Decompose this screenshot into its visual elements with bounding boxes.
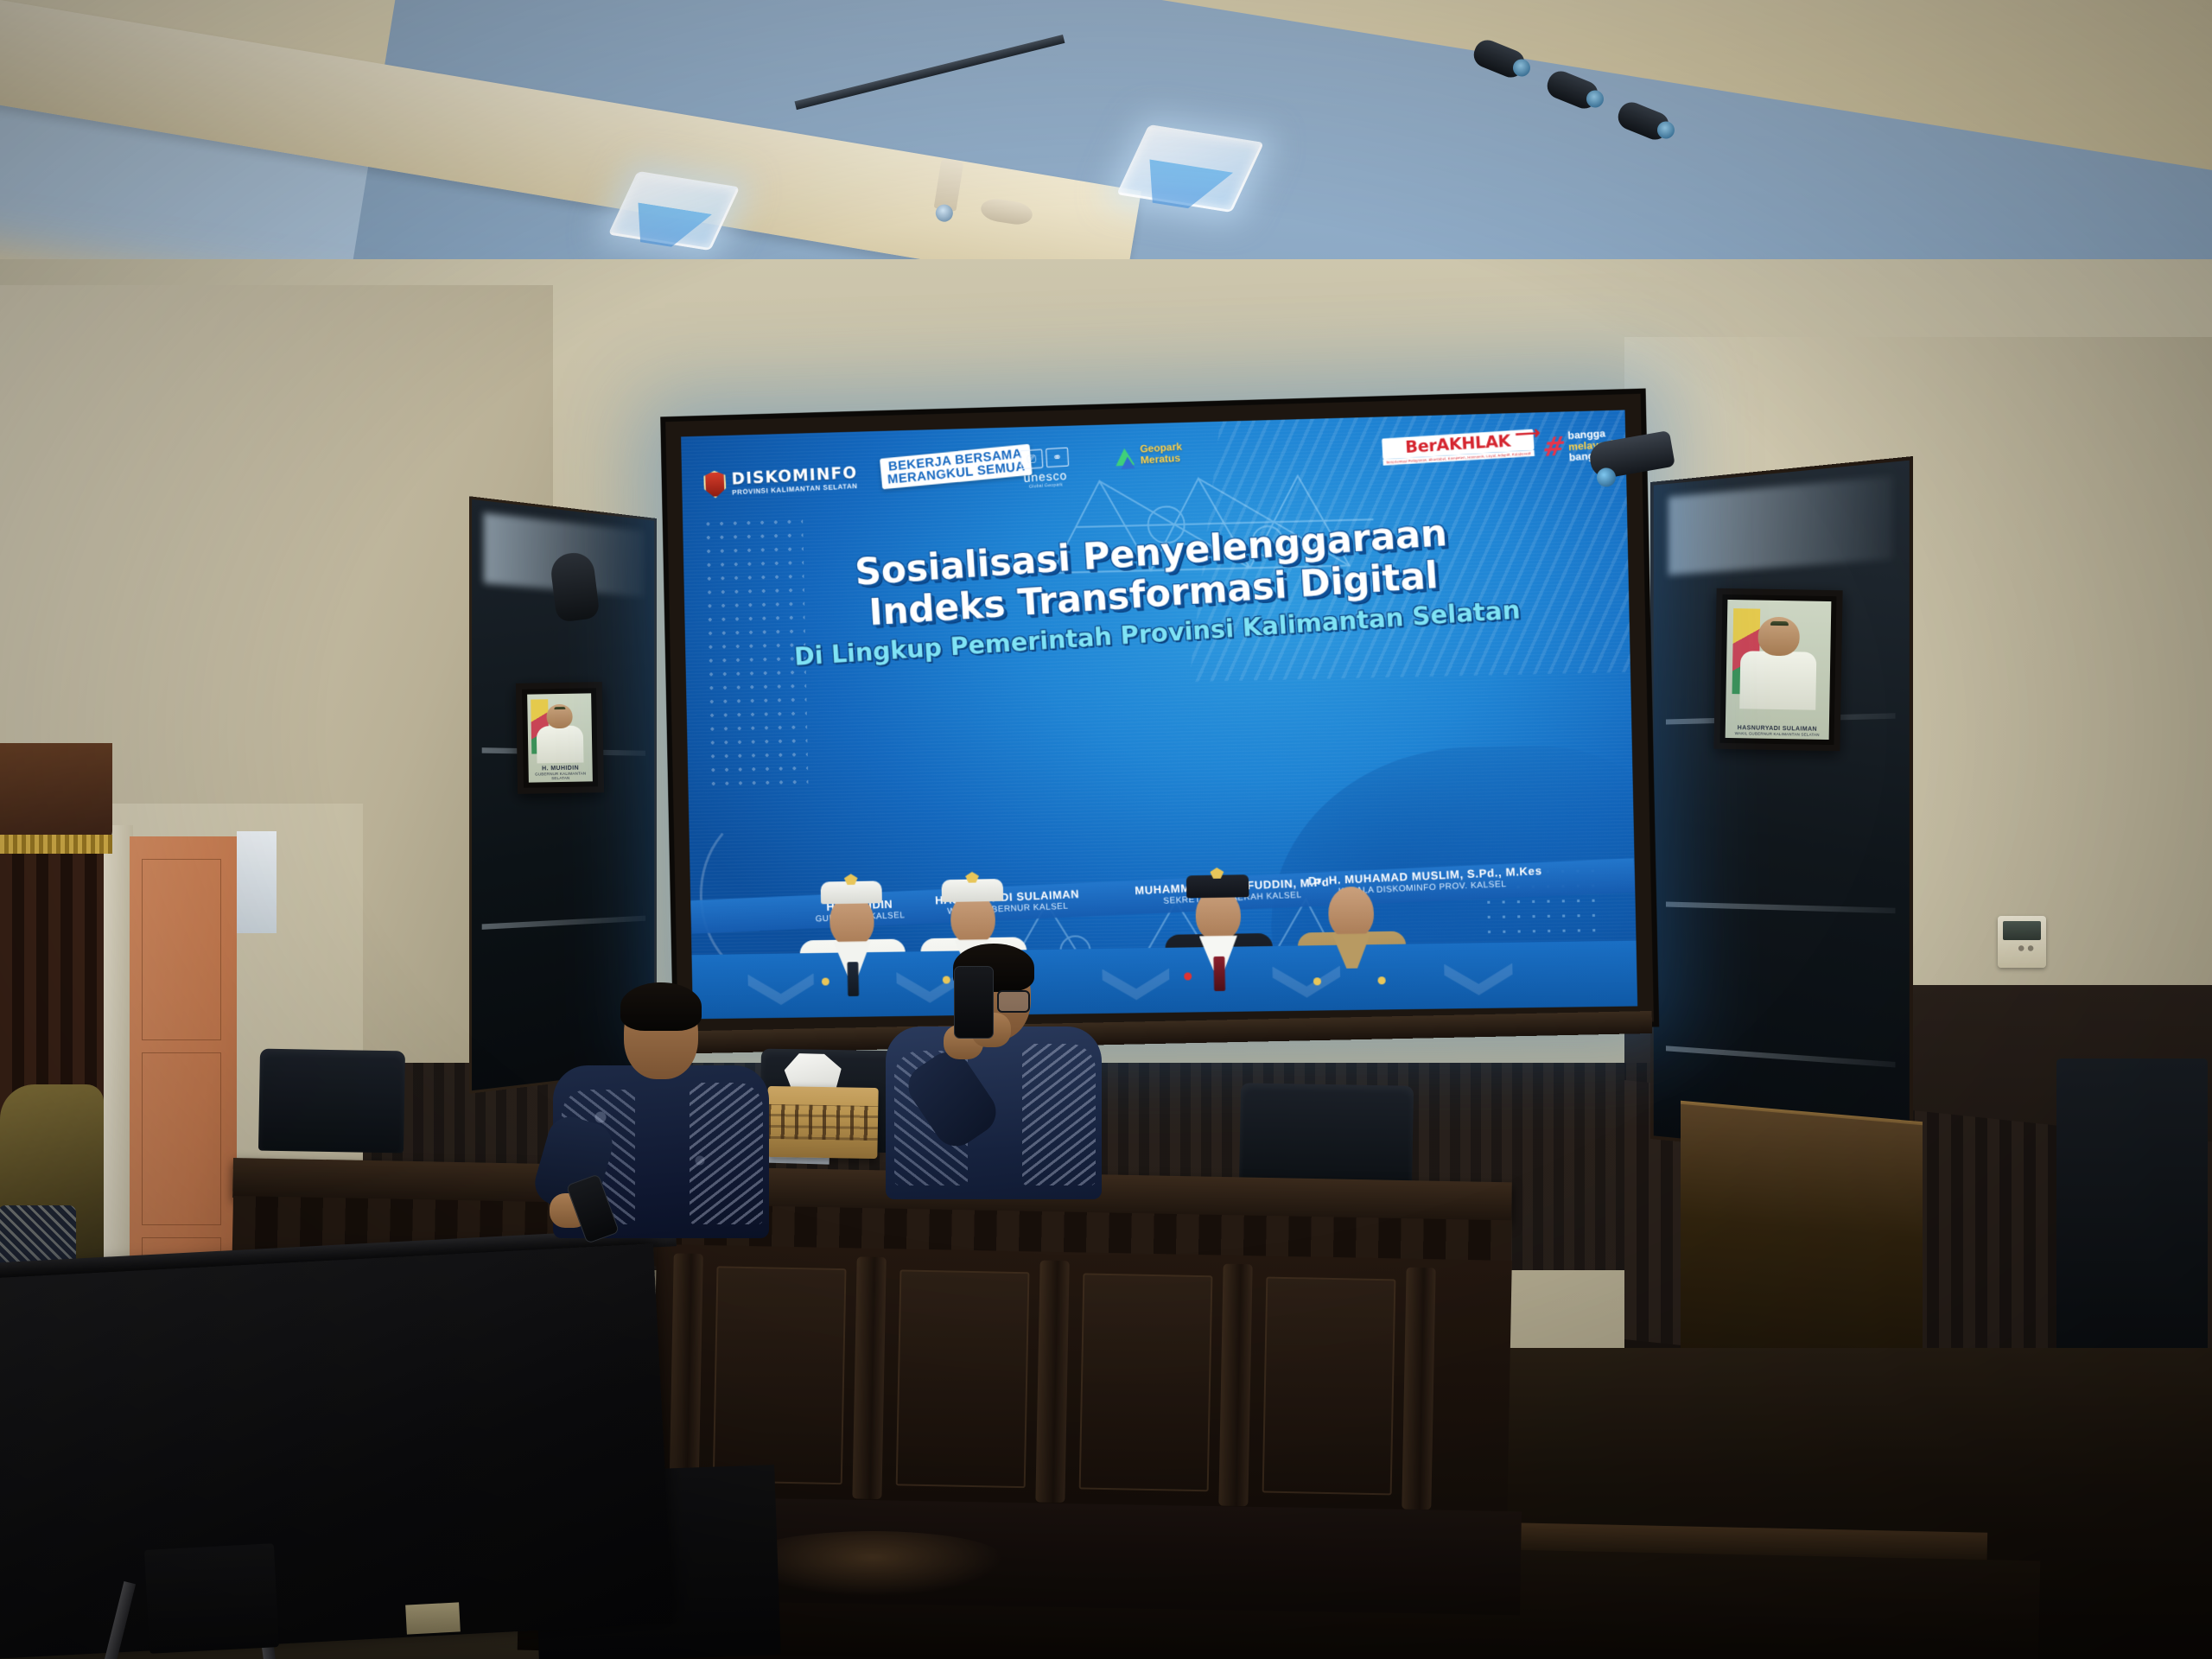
portrait-uniform xyxy=(1739,651,1817,710)
uniform-badge-icon xyxy=(1313,977,1321,985)
desk-carved-panel xyxy=(1079,1273,1213,1491)
conference-room-scene: H. MUHIDIN GUBERNUR KALIMANTAN SELATAN H… xyxy=(0,0,2212,1659)
desk-carved-panel xyxy=(896,1269,1030,1488)
uniform-badge-icon xyxy=(822,978,829,986)
wall-portrait-governor: H. MUHIDIN GUBERNUR KALIMANTAN SELATAN xyxy=(516,682,604,794)
desk-column xyxy=(1218,1264,1252,1507)
portrait-caption: H. MUHIDIN GUBERNUR KALIMANTAN SELATAN xyxy=(531,765,590,780)
desk-column xyxy=(852,1256,886,1499)
monitor-label-sticker xyxy=(405,1602,461,1634)
portrait-face xyxy=(547,704,573,729)
desk-carved-panel xyxy=(713,1266,847,1484)
desk-carved-panel xyxy=(1262,1277,1396,1496)
door-panel xyxy=(142,1052,221,1225)
unesco-geopark-icon: ⚭ xyxy=(1046,447,1069,467)
ac-thermostat-panel[interactable] xyxy=(1998,916,2046,968)
uniform-badge-icon xyxy=(1184,973,1192,981)
geopark-line-2: Meratus xyxy=(1140,453,1182,467)
officer-cap-icon xyxy=(554,707,564,710)
peci-cap-icon xyxy=(1185,874,1249,898)
curtain-fringe xyxy=(0,835,112,854)
batik-pattern xyxy=(1022,1044,1096,1185)
portrait-uniform xyxy=(536,726,583,764)
provincial-crest-icon xyxy=(703,471,727,499)
glass-light-strip xyxy=(1666,1046,1896,1067)
glass-light-strip xyxy=(1666,902,1896,914)
berakhlak-logo: ⟶ BerAKHLAK Berorientasi Pelayanan, Akun… xyxy=(1382,429,1535,466)
officer-cap-icon xyxy=(820,881,881,905)
unesco-marks: ⎚ ⚭ xyxy=(1020,447,1070,468)
swoosh-arrow-icon: ⟶ xyxy=(1515,422,1541,445)
geopark-meratus-logo: Geopark Meratus xyxy=(1115,442,1183,468)
desk-column xyxy=(669,1253,702,1496)
portrait-face xyxy=(1758,617,1800,657)
chevron-decor xyxy=(747,973,814,1007)
conference-chair[interactable] xyxy=(1239,1083,1414,1189)
portrait-image: H. MUHIDIN GUBERNUR KALIMANTAN SELATAN xyxy=(527,693,593,782)
officer-cap-icon xyxy=(1770,620,1788,626)
bottom-chevron-band xyxy=(691,941,1637,1020)
monitor-vesa-mount xyxy=(144,1543,279,1654)
portrait-image: HASNURYADI SULAIMAN WAKIL GUBERNUR KALIM… xyxy=(1726,600,1832,740)
wall-portrait-vice-governor: HASNURYADI SULAIMAN WAKIL GUBERNUR KALIM… xyxy=(1713,588,1842,752)
official-face xyxy=(1327,887,1374,939)
glass-light-strip xyxy=(481,916,645,930)
hash-icon: # xyxy=(1541,436,1567,459)
unesco-logo: ⎚ ⚭ unesco Global Geopark xyxy=(1020,447,1071,489)
uniform-badge-icon xyxy=(1377,976,1385,984)
batik-pattern xyxy=(690,1083,763,1224)
conference-chair[interactable] xyxy=(258,1049,405,1154)
necktie-icon xyxy=(847,962,859,996)
door-opening xyxy=(237,831,276,933)
necktie-icon xyxy=(1213,957,1225,991)
desk-column xyxy=(1035,1261,1069,1503)
portrait-caption: HASNURYADI SULAIMAN WAKIL GUBERNUR KALIM… xyxy=(1729,725,1825,737)
glass-highlight xyxy=(1668,476,1892,575)
mobile-phone[interactable] xyxy=(954,966,994,1039)
unesco-temple-icon: ⎚ xyxy=(1020,448,1044,469)
chevron-decor xyxy=(1444,963,1513,996)
led-screen-content: DISKOMINFO PROVINSI KALIMANTAN SELATAN B… xyxy=(681,410,1637,1019)
officials-photo-row: H. MUHIDIN GUBERNUR KALSEL HASNURYADI SU… xyxy=(686,672,1636,949)
curtain-valance xyxy=(0,743,112,843)
wall-glass-panel-right xyxy=(1650,456,1913,1165)
desk-column xyxy=(1402,1268,1435,1510)
officer-cap-icon xyxy=(942,879,1004,902)
chevron-decor xyxy=(1273,965,1341,999)
desk-carving-detail xyxy=(743,1531,1002,1597)
tagline-badge: BEKERJA BERSAMA MERANGKUL SEMUA xyxy=(880,443,1032,489)
door-panel xyxy=(142,859,221,1040)
tissue-box xyxy=(766,1086,878,1159)
foreground-monitor-rear[interactable] xyxy=(0,1243,673,1659)
led-video-wall[interactable]: DISKOMINFO PROVINSI KALIMANTAN SELATAN B… xyxy=(665,394,1654,1035)
diskominfo-logo: DISKOMINFO PROVINSI KALIMANTAN SELATAN xyxy=(703,464,858,499)
chevron-decor xyxy=(1103,968,1171,1001)
person-hair xyxy=(620,982,702,1031)
geopark-mountain-icon xyxy=(1115,444,1136,467)
